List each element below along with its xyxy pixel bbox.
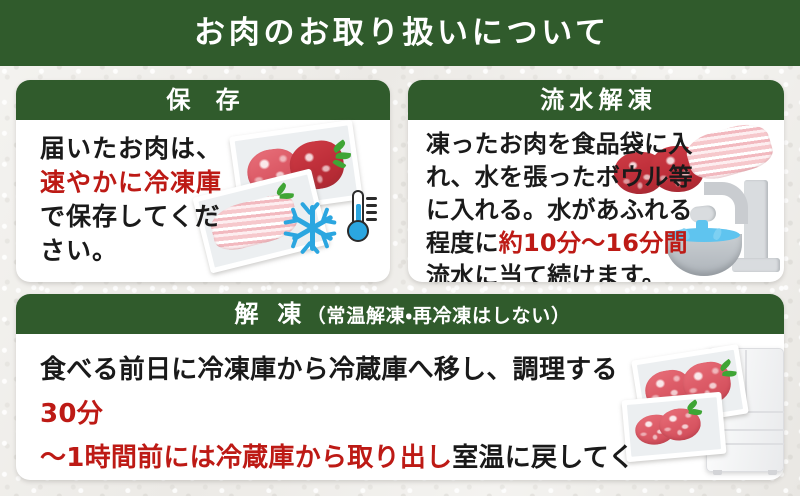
- pork-belly: [683, 118, 776, 185]
- card-storage-header: 保存: [16, 80, 390, 120]
- fridge-foot: [713, 470, 722, 475]
- card-running-water-body: 凍ったお肉を食品袋に入れ、水を張ったボウル等に入れる。水があふれる程度に約10分…: [408, 120, 784, 282]
- card-running-water: 流水解凍 凍ったお肉を食品袋に入れ、水を張ったボウル等に入れる。水があふれる程度…: [408, 80, 784, 282]
- body-text-run: 食べる前日に冷凍庫から冷蔵庫へ移し、調理する: [40, 355, 618, 385]
- fridge-foot: [768, 470, 777, 475]
- garnish-icon: [685, 400, 707, 422]
- text-line: さい。: [40, 234, 222, 268]
- text-line: 程度に約10分〜16分間: [426, 227, 693, 260]
- highlight-text: 約10分〜16分間: [499, 229, 688, 257]
- body-text-run: 凍ったお肉を食品袋に入: [426, 130, 693, 158]
- faucet-base: [732, 258, 780, 272]
- page-banner: お肉のお取り扱いについて: [0, 0, 800, 66]
- body-text-run: 流水に当て続けます。: [426, 262, 666, 282]
- card-thaw-heading-main: 解 凍: [229, 302, 306, 326]
- text-line: に入れる。水があふれる: [426, 194, 693, 227]
- snowflake-icon: [284, 200, 340, 256]
- body-text-run: に入れる。水があふれる: [426, 196, 693, 224]
- text-line: 食べる前日に冷凍庫から冷蔵庫へ移し、調理する30分: [40, 348, 640, 436]
- card-storage-heading: 保存: [141, 88, 265, 112]
- card-thaw-text: 食べる前日に冷凍庫から冷蔵庫へ移し、調理する30分〜1時間前には冷蔵庫から取り出…: [40, 348, 640, 480]
- thermometer-tick: [366, 204, 377, 207]
- card-running-water-text: 凍ったお肉を食品袋に入れ、水を張ったボウル等に入れる。水があふれる程度に約10分…: [426, 128, 693, 282]
- card-thaw-body: 食べる前日に冷凍庫から冷蔵庫へ移し、調理する30分〜1時間前には冷蔵庫から取り出…: [16, 334, 784, 480]
- card-storage: 保存: [16, 80, 390, 282]
- tray-inner: [627, 397, 721, 457]
- text-line: 届いたお肉は、: [40, 132, 222, 166]
- body-text-run: れ、水を張ったボウル等: [426, 163, 693, 191]
- body-text-run: さい。: [40, 236, 118, 265]
- card-storage-body: 届いたお肉は、速やかに冷凍庫で保存してください。: [16, 120, 390, 282]
- text-line: 〜1時間前には冷蔵庫から取り出し室温に戻してくださ: [40, 436, 640, 480]
- text-line: で保存してくだ: [40, 200, 222, 234]
- body-text-run: 程度に: [426, 229, 499, 257]
- body-text-run: 届いたお肉は、: [40, 134, 222, 163]
- text-line: 流水に当て続けます。: [426, 260, 693, 282]
- thermometer-bulb: [347, 220, 369, 242]
- garnish-icon: [330, 139, 356, 172]
- card-thaw-header: 解 凍 （常温解凍・再冷凍はしない）: [16, 294, 784, 334]
- thermometer-tick: [366, 218, 377, 221]
- text-line: 速やかに冷凍庫: [40, 166, 222, 200]
- thermometer-icon: [344, 190, 380, 248]
- highlight-text: 〜1時間前には冷蔵庫から取り出し: [40, 443, 452, 473]
- highlight-text: 速やかに冷凍庫: [40, 168, 222, 197]
- text-line: れ、水を張ったボウル等: [426, 161, 693, 194]
- card-thaw: 解 凍 （常温解凍・再冷凍はしない）: [16, 294, 784, 480]
- highlight-text: 30分: [40, 399, 103, 429]
- text-line: 凍ったお肉を食品袋に入: [426, 128, 693, 161]
- card-thaw-heading-sub: （常温解凍・再冷凍はしない）: [307, 301, 571, 328]
- thermometer-tick: [366, 197, 377, 200]
- body-text-run: で保存してくだ: [40, 202, 221, 231]
- page-title: お肉のお取り扱いについて: [190, 18, 609, 49]
- card-storage-text: 届いたお肉は、速やかに冷凍庫で保存してください。: [40, 132, 222, 268]
- card-running-water-heading: 流水解凍: [535, 88, 657, 112]
- thermometer-tick: [366, 211, 377, 214]
- card-running-water-header: 流水解凍: [408, 80, 784, 120]
- garnish-icon: [717, 359, 741, 388]
